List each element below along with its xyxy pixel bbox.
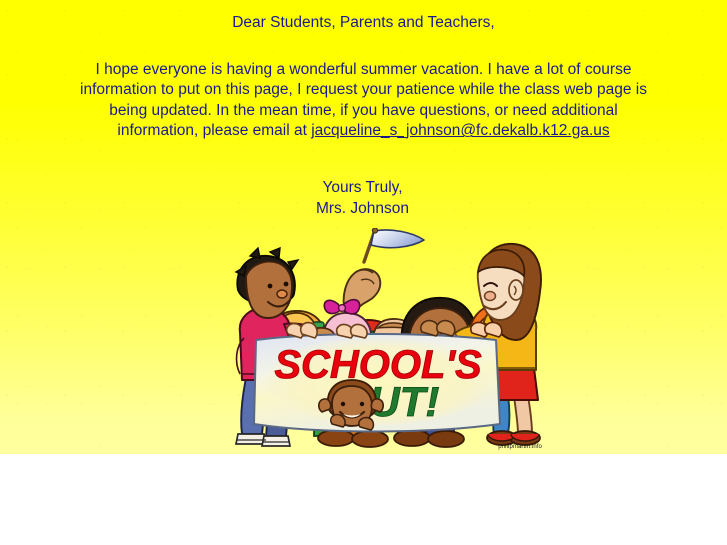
closing-line-yours-truly: Yours Truly, bbox=[0, 178, 726, 199]
letter-body: Dear Students, Parents and Teachers, I h… bbox=[0, 0, 727, 219]
page-lower-blank-area bbox=[0, 454, 727, 545]
schools-out-banner: SCHOOL'S OUT! bbox=[254, 334, 500, 432]
closing-line-signature: Mrs. Johnson bbox=[0, 199, 726, 220]
schools-out-illustration: SCHOOL'S OUT! bbox=[228, 228, 544, 454]
page-banner: Dear Students, Parents and Teachers, I h… bbox=[0, 0, 727, 454]
letter-paragraph: I hope everyone is having a wonderful su… bbox=[78, 60, 650, 142]
hair-bow-icon bbox=[324, 300, 359, 314]
letter-closing: Yours Truly, Mrs. Johnson bbox=[0, 178, 727, 219]
clipart-watermark: philipmartin.info bbox=[498, 444, 542, 450]
email-link[interactable]: jacqueline_s_johnson@fc.dekalb.k12.ga.us bbox=[311, 122, 609, 139]
letter-salutation: Dear Students, Parents and Teachers, bbox=[0, 13, 727, 34]
pennant-flag-icon bbox=[364, 228, 424, 262]
schools-out-clipart: SCHOOL'S OUT! bbox=[228, 228, 544, 454]
